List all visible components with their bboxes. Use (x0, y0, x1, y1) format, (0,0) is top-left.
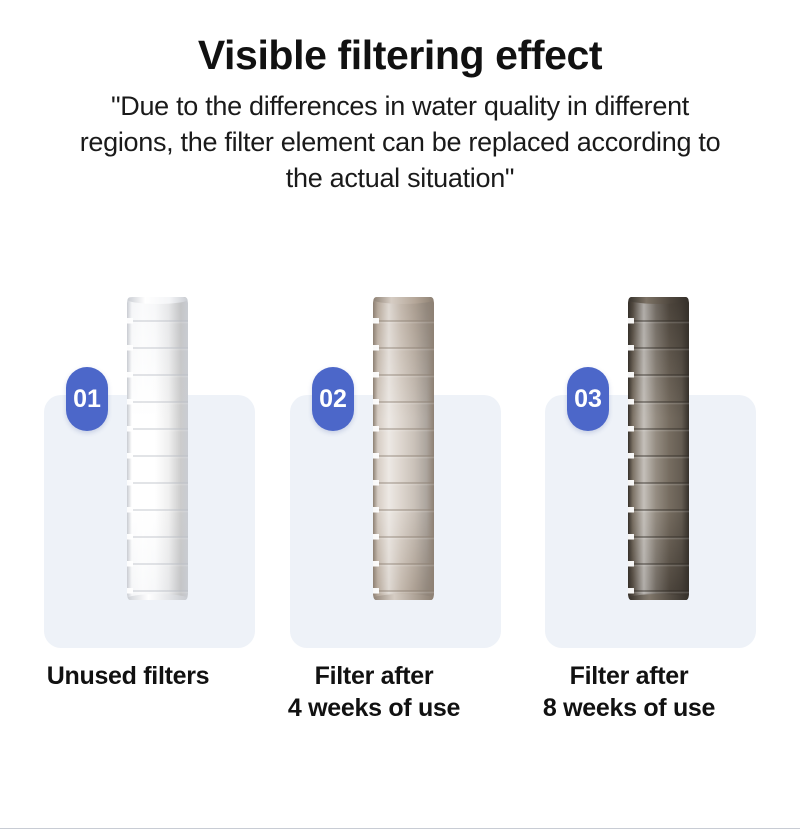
item-caption-8-weeks: Filter after 8 weeks of use (501, 660, 757, 724)
filter-cartridge-8-weeks (628, 297, 689, 600)
caption-line-1: Filter after (246, 660, 502, 692)
comparison-item-unused: 01 Unused filters (0, 0, 256, 829)
product-infographic: Visible filtering effect "Due to the dif… (0, 0, 800, 829)
step-badge-01: 01 (66, 367, 108, 431)
caption-line-1: Filter after (501, 660, 757, 692)
filter-bottom-cap (373, 594, 434, 600)
item-caption-unused: Unused filters (0, 660, 256, 692)
comparison-item-8-weeks: 03 Filter after 8 weeks of use (501, 0, 757, 829)
step-badge-02: 02 (312, 367, 354, 431)
step-badge-03: 03 (567, 367, 609, 431)
filter-ribs (628, 297, 689, 600)
filter-cartridge-4-weeks (373, 297, 434, 600)
item-caption-4-weeks: Filter after 4 weeks of use (246, 660, 502, 724)
filter-edge-notches (127, 297, 133, 600)
filter-ribs (127, 297, 188, 600)
filter-edge-notches (628, 297, 634, 600)
filter-cartridge-unused (127, 297, 188, 600)
comparison-row: 01 Unused filters 02 Filter after 4 week… (0, 0, 800, 829)
filter-edge-notches (373, 297, 379, 600)
comparison-item-4-weeks: 02 Filter after 4 weeks of use (246, 0, 502, 829)
caption-line-2: 4 weeks of use (246, 692, 502, 724)
filter-bottom-cap (127, 594, 188, 600)
caption-line-2: 8 weeks of use (501, 692, 757, 724)
filter-bottom-cap (628, 594, 689, 600)
filter-ribs (373, 297, 434, 600)
caption-line-1: Unused filters (0, 660, 256, 692)
